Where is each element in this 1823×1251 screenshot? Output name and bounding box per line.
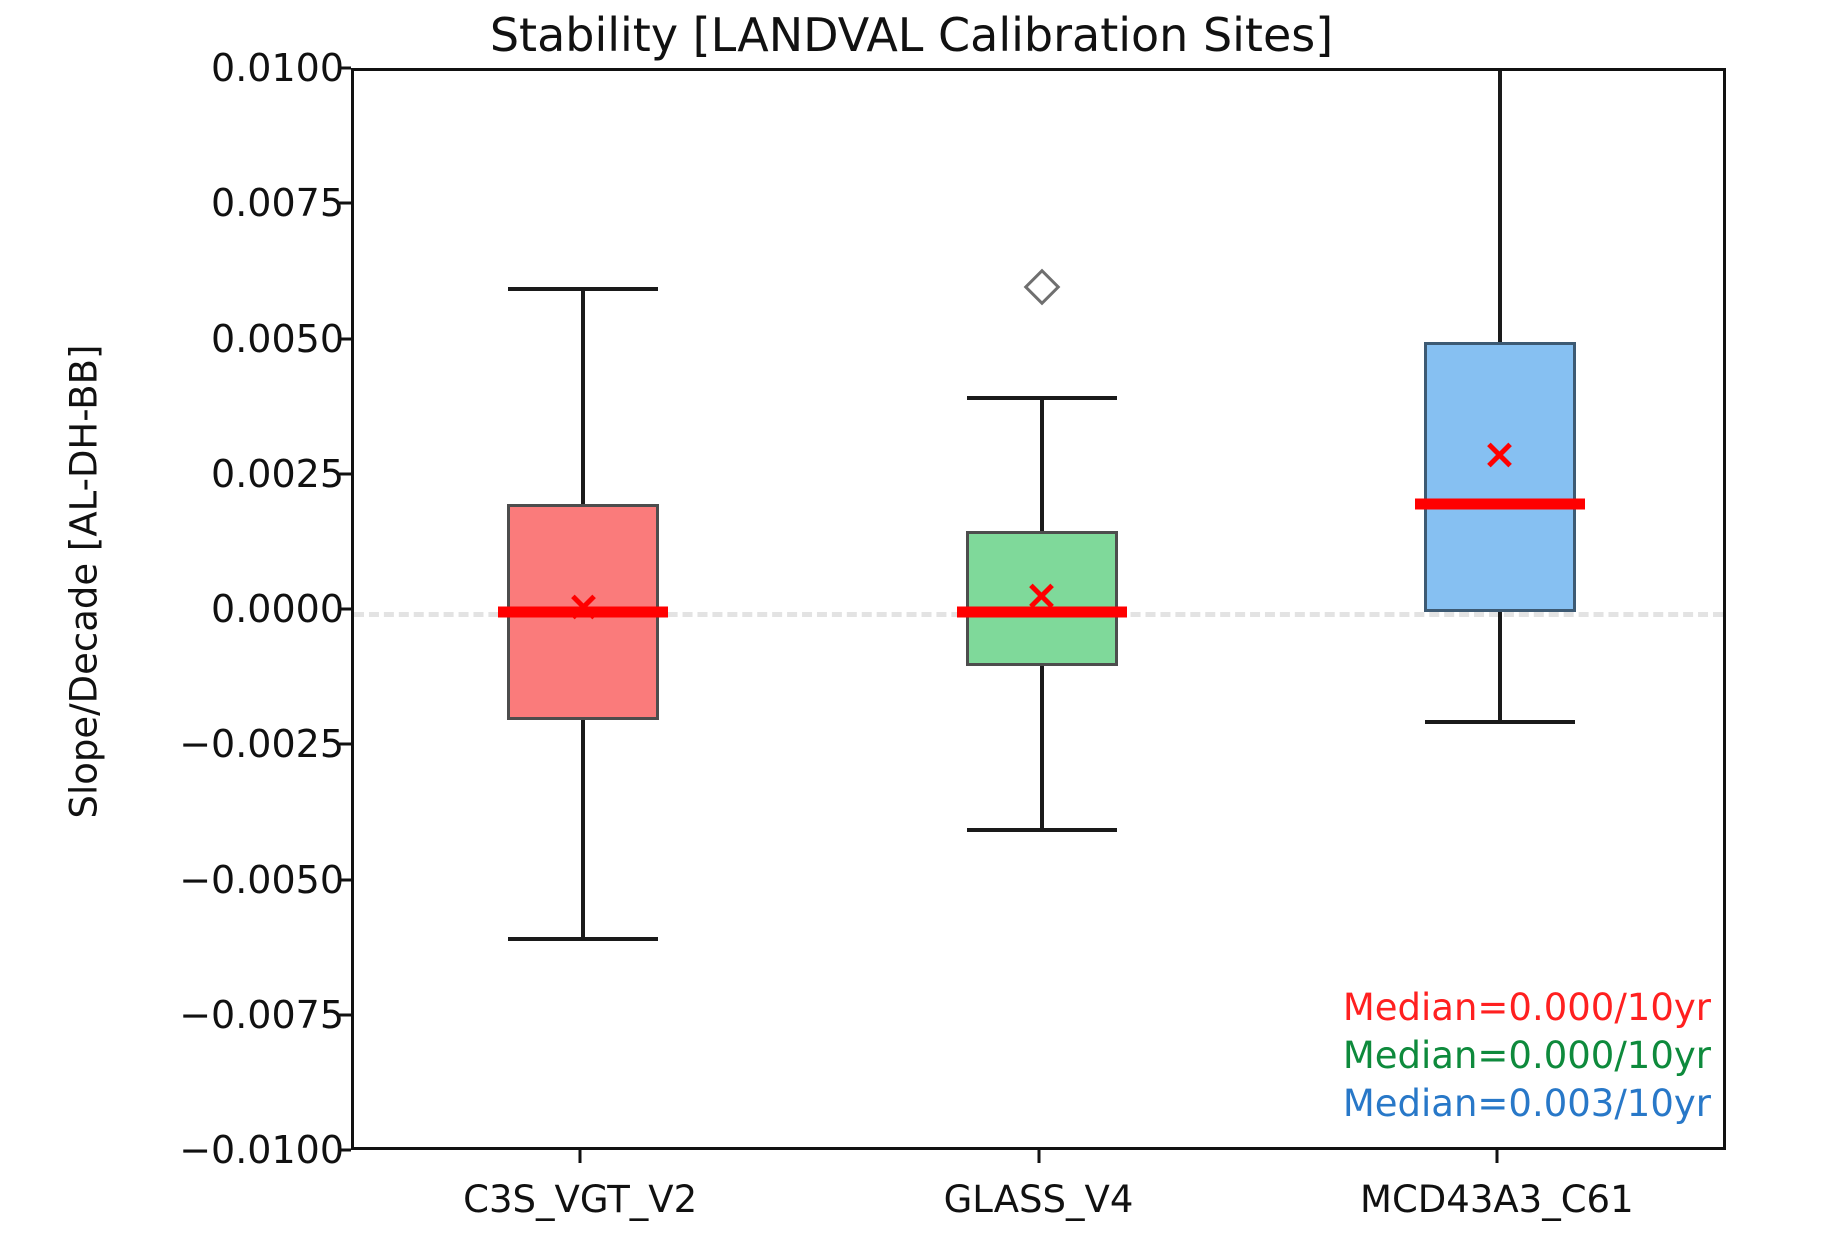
y-tick-label: 0.0100 [211, 46, 344, 90]
x-tick-label-mcd43a3_c61: MCD43A3_C61 [1360, 1178, 1634, 1221]
y-tick-label: 0.0050 [211, 317, 344, 361]
y-tick-label: −0.0050 [179, 858, 344, 902]
median-annotation-2: Median=0.000/10yr [1343, 1034, 1711, 1077]
y-tick-mark [338, 472, 351, 475]
median-line [1415, 498, 1585, 509]
whisker-cap-lower [1425, 720, 1575, 724]
x-tick-mark [1037, 1150, 1040, 1163]
y-tick-mark [338, 67, 351, 70]
chart-canvas: Stability [LANDVAL Calibration Sites] Sl… [0, 0, 1823, 1251]
whisker-lower [1498, 612, 1502, 720]
y-tick-mark [338, 1013, 351, 1016]
y-tick-label: −0.0075 [179, 993, 344, 1037]
y-axis-label: Slope/Decade [AL-DH-BB] [63, 262, 106, 902]
median-annotation-3: Median=0.003/10yr [1343, 1082, 1711, 1125]
y-tick-mark [338, 608, 351, 611]
x-tick-label-c3s_vgt_v2: C3S_VGT_V2 [463, 1178, 697, 1221]
y-tick-label: −0.0100 [179, 1128, 344, 1172]
x-tick-label-glass_v4: GLASS_V4 [944, 1178, 1134, 1221]
y-tick-label: 0.0025 [211, 452, 344, 496]
x-tick-mark [1495, 1150, 1498, 1163]
plot-area: Median=0.000/10yrMedian=0.000/10yrMedian… [351, 68, 1726, 1150]
y-tick-label: 0.0000 [211, 587, 344, 631]
y-tick-label: −0.0025 [179, 722, 344, 766]
median-annotation-1: Median=0.000/10yr [1343, 986, 1711, 1029]
whisker-upper [1498, 71, 1502, 342]
y-tick-mark [338, 743, 351, 746]
y-tick-mark [338, 1149, 351, 1152]
y-tick-label: 0.0075 [211, 181, 344, 225]
y-tick-mark [338, 337, 351, 340]
y-tick-mark [338, 878, 351, 881]
y-tick-mark [338, 202, 351, 205]
x-tick-mark [579, 1150, 582, 1163]
box-iqr[interactable] [1424, 342, 1576, 613]
mean-marker-x-icon [1485, 440, 1515, 470]
